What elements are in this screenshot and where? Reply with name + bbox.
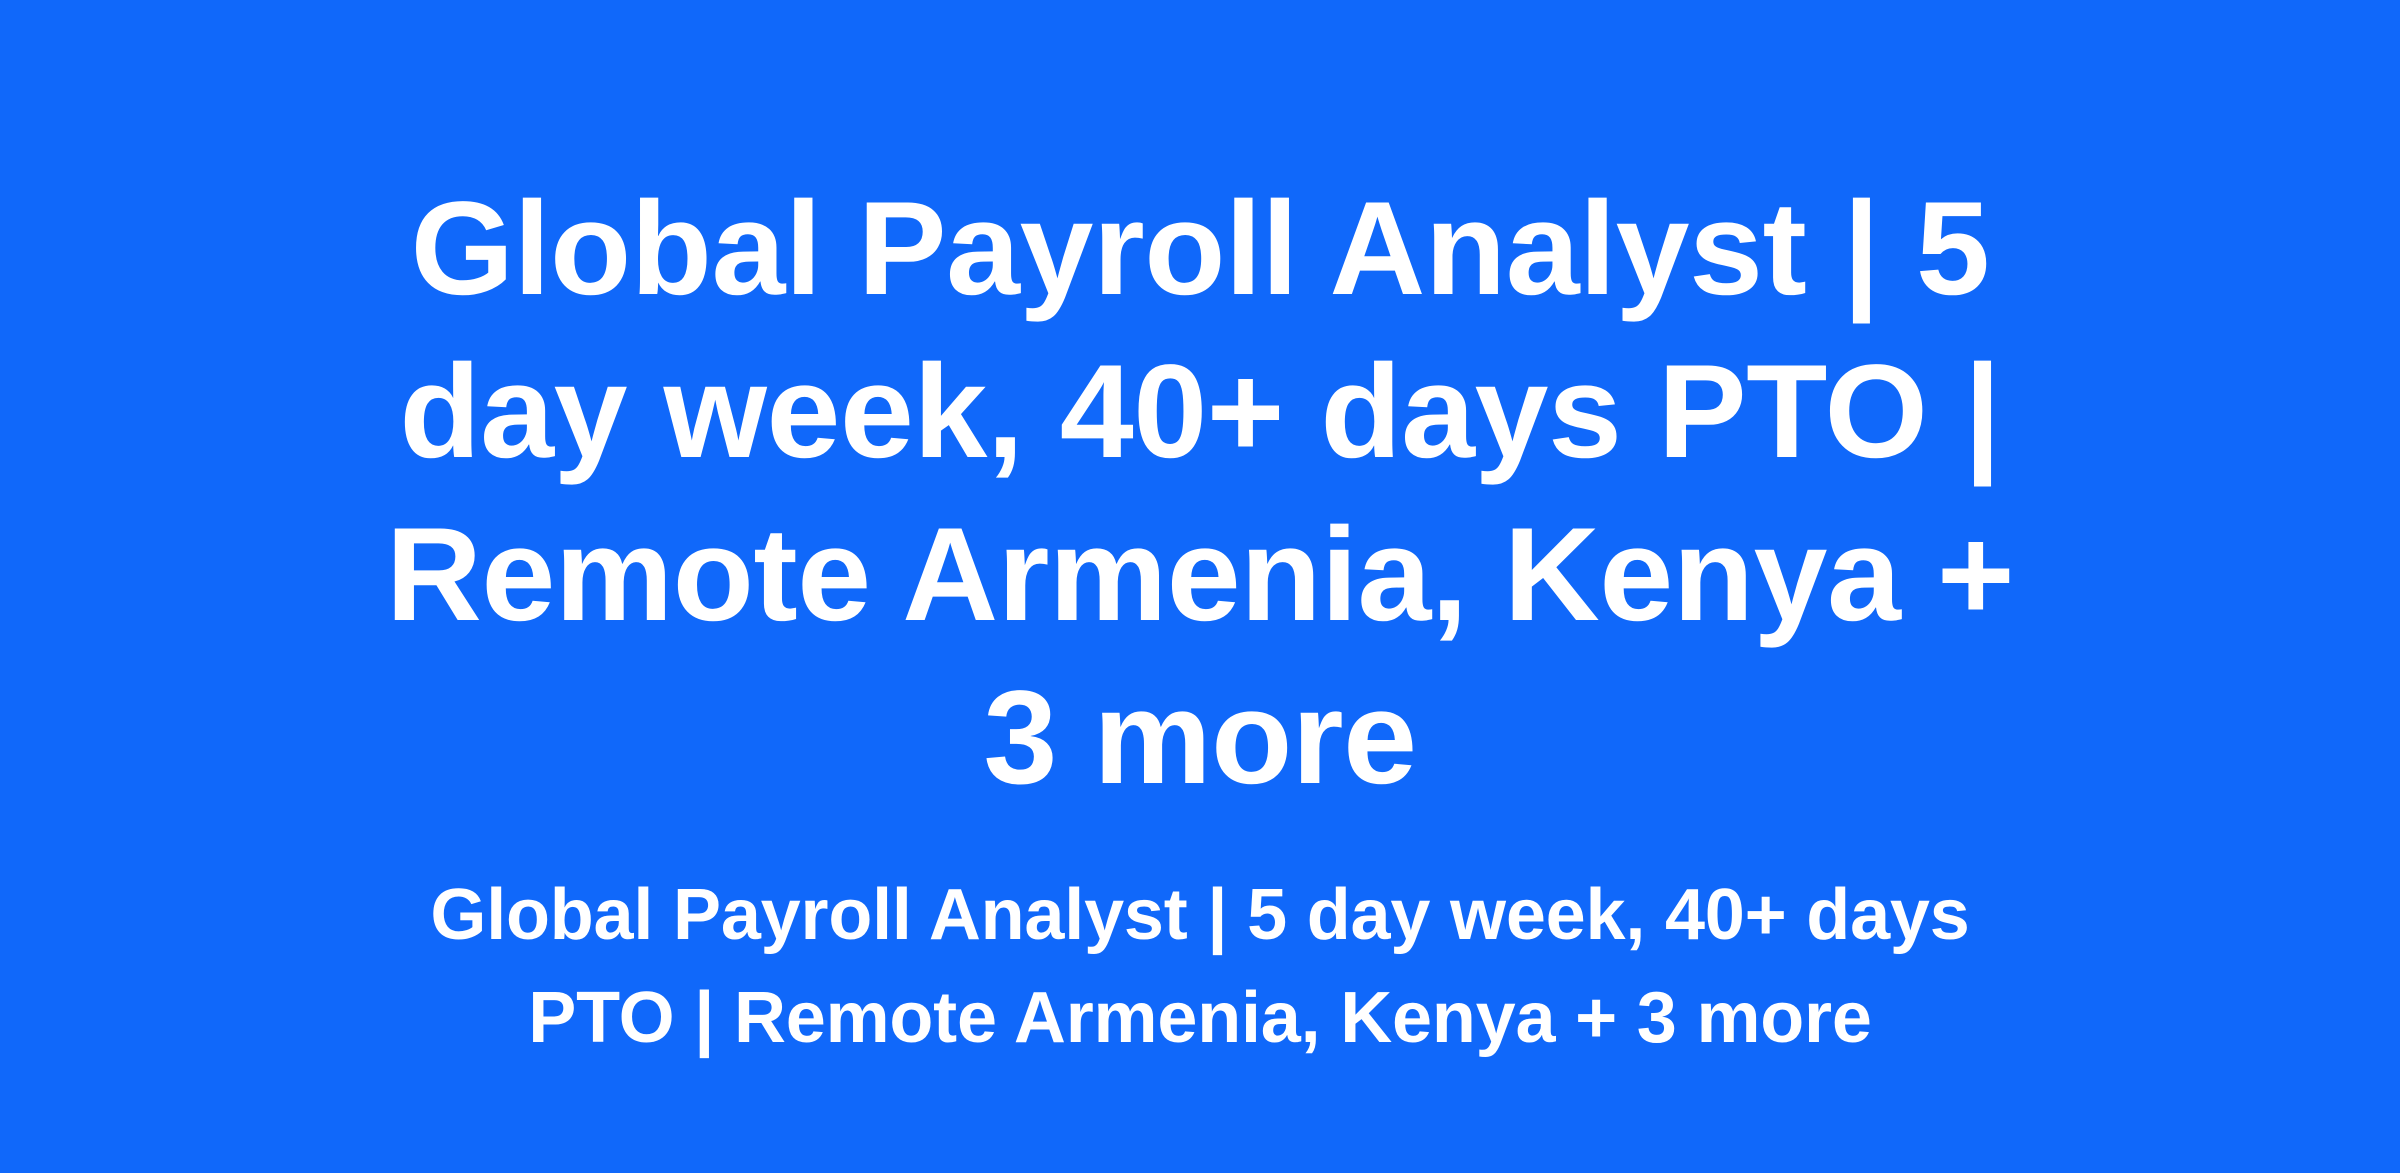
page-title: Global Payroll Analyst | 5 day week, 40+… [340,168,2060,820]
job-share-card: Global Payroll Analyst | 5 day week, 40+… [0,0,2400,1173]
card-subtitle: Global Payroll Analyst | 5 day week, 40+… [390,864,2010,1070]
card-content: Global Payroll Analyst | 5 day week, 40+… [340,168,2060,1070]
